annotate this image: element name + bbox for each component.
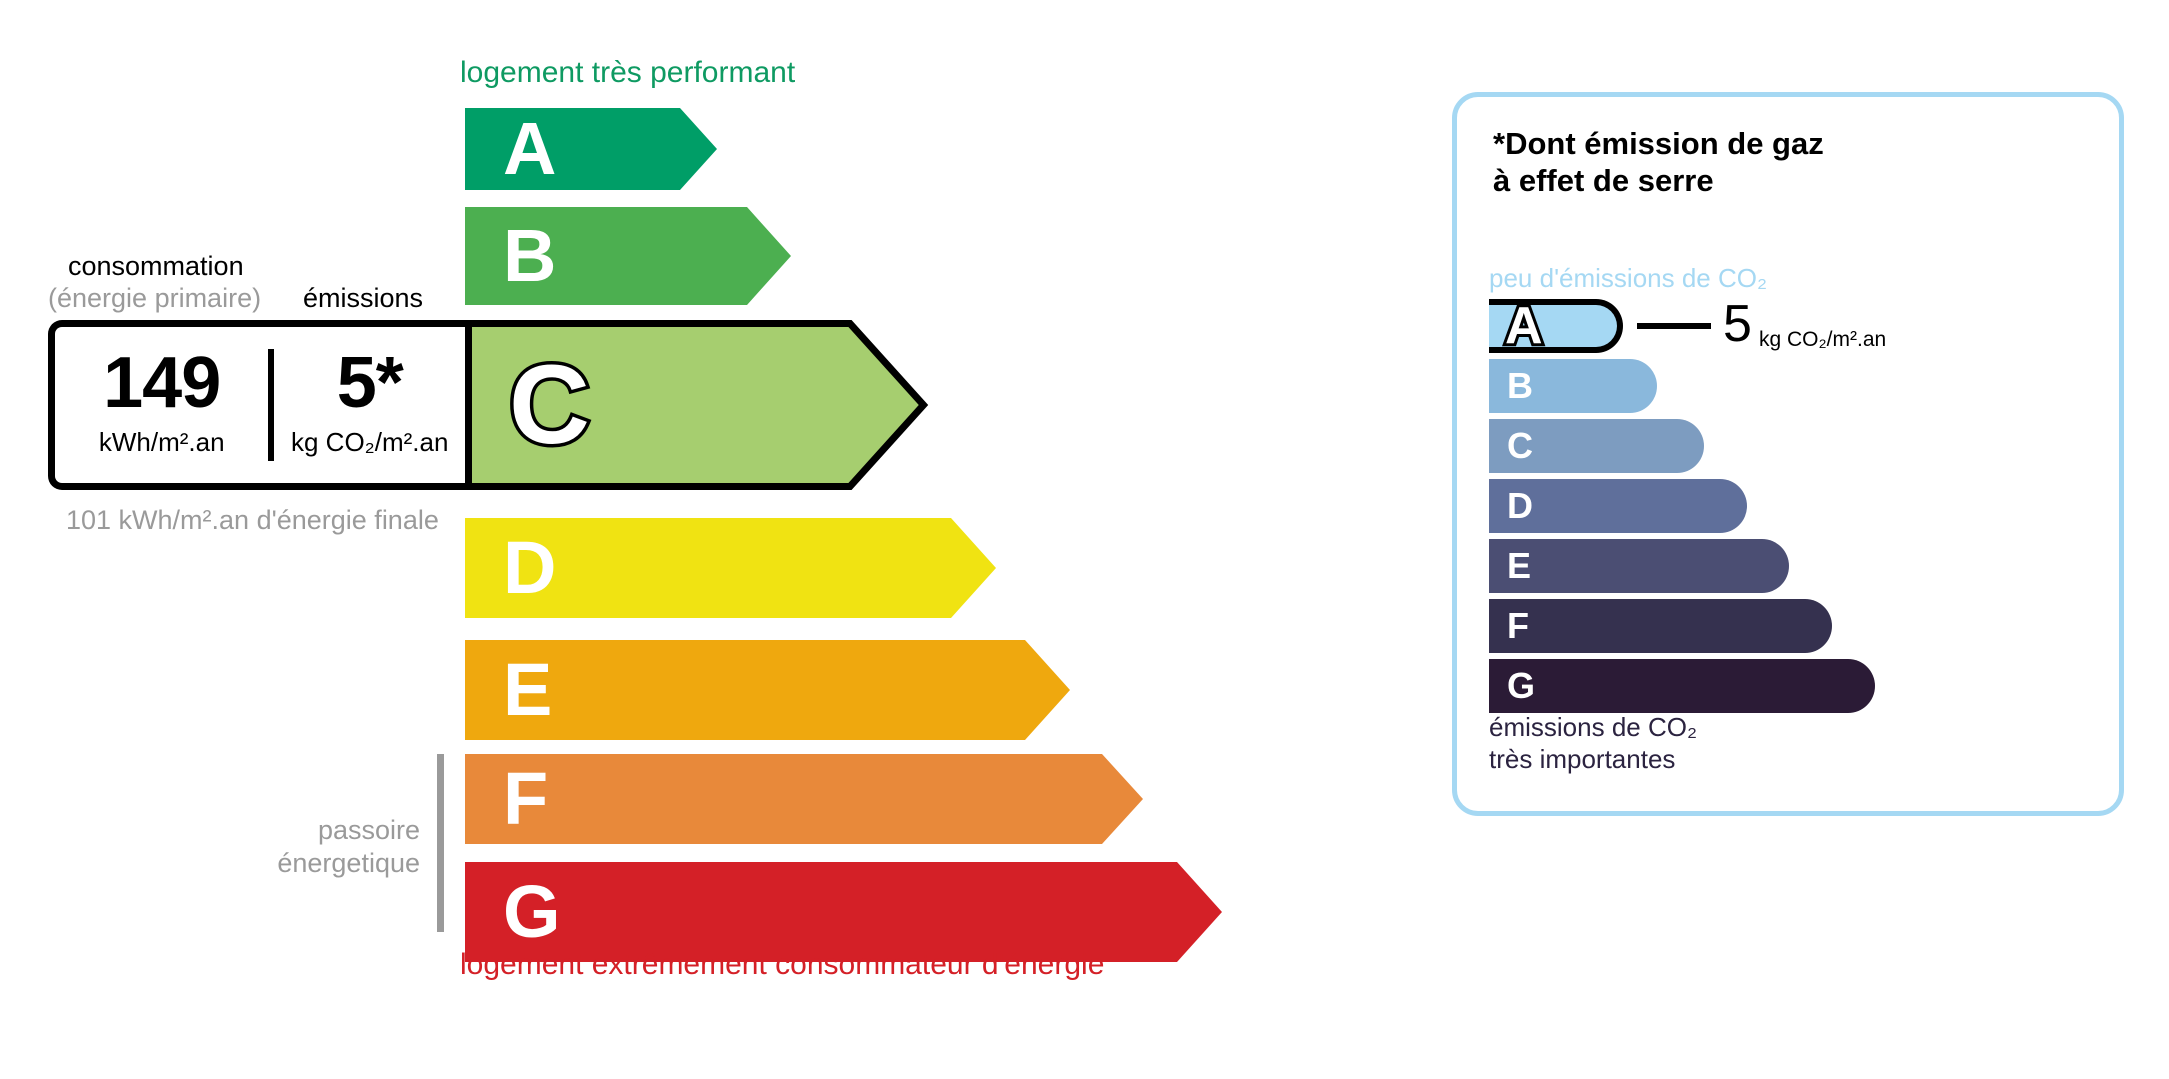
ges-callout-line xyxy=(1637,323,1711,329)
ges-bar-a: A xyxy=(1489,299,1623,353)
ges-bar-letter-a: A xyxy=(1505,300,1543,352)
energy-bar-b: B xyxy=(465,207,791,305)
energy-bar-d: D xyxy=(465,518,996,618)
consumption-value: 149 xyxy=(103,347,220,419)
dpe-energy-label: logement très performant ABCDEFG consomm… xyxy=(0,0,2169,1079)
energy-bar-e: E xyxy=(465,640,1070,740)
ges-bar-b: B xyxy=(1489,359,1657,413)
energy-bar-letter-b: B xyxy=(503,219,556,293)
ges-top-note: peu d'émissions de CO₂ xyxy=(1489,263,1767,294)
energy-bar-letter-c: C xyxy=(509,349,590,461)
energy-bar-letter-d: D xyxy=(503,531,556,605)
ges-bar-letter-e: E xyxy=(1507,548,1531,584)
ges-bar-c: C xyxy=(1489,419,1704,473)
energy-bar-letter-a: A xyxy=(503,112,556,186)
ges-bar-letter-c: C xyxy=(1507,428,1533,464)
ges-bar-g: G xyxy=(1489,659,1875,713)
consumption-cell: 149 kWh/m².an xyxy=(55,327,268,483)
energy-bottom-note: logement extrêmement consommateur d'éner… xyxy=(460,948,1104,982)
ges-bar-d: D xyxy=(1489,479,1747,533)
ges-bar-shape-f xyxy=(1489,599,1832,653)
energy-performance-chart: logement très performant ABCDEFG consomm… xyxy=(0,0,1400,1079)
ges-bar-shape-g xyxy=(1489,659,1875,713)
energy-bar-shape-f xyxy=(465,754,1143,844)
energy-bar-letter-e: E xyxy=(503,653,552,727)
ges-bar-letter-b: B xyxy=(1507,368,1533,404)
energy-bar-g: G xyxy=(465,862,1222,962)
emissions-cell: 5* kg CO₂/m².an xyxy=(274,327,465,483)
final-energy-note: 101 kWh/m².an d'énergie finale xyxy=(66,504,439,537)
energy-top-note: logement très performant xyxy=(460,56,795,90)
energy-bar-shape-g xyxy=(465,862,1222,962)
ges-title: *Dont émission de gaz à effet de serre xyxy=(1493,125,1824,199)
ges-callout-unit: kg CO₂/m².an xyxy=(1759,329,1886,350)
energy-bar-letter-f: F xyxy=(503,762,548,836)
ges-panel: *Dont émission de gaz à effet de serre p… xyxy=(1452,92,2124,816)
energy-bar-f: F xyxy=(465,754,1143,844)
energy-bar-letter-g: G xyxy=(503,875,561,949)
consumption-sublabel: (énergie primaire) xyxy=(48,283,261,314)
consumption-unit: kWh/m².an xyxy=(99,427,225,458)
emissions-unit: kg CO₂/m².an xyxy=(291,427,448,458)
ges-bar-letter-g: G xyxy=(1507,668,1535,704)
ges-bar-letter-d: D xyxy=(1507,488,1533,524)
passoire-label: passoire énergetique xyxy=(180,814,420,880)
passoire-marker-bar xyxy=(437,754,444,932)
emissions-label: émissions xyxy=(303,283,423,314)
ges-callout-value: 5 xyxy=(1723,298,1752,350)
ges-bar-shape-e xyxy=(1489,539,1789,593)
ges-bar-letter-f: F xyxy=(1507,608,1529,644)
energy-bar-c: C xyxy=(465,320,927,490)
ges-bar-f: F xyxy=(1489,599,1832,653)
emissions-value: 5* xyxy=(337,347,403,419)
ges-bottom-note: émissions de CO₂ très importantes xyxy=(1489,712,1697,775)
energy-bar-a: A xyxy=(465,108,717,190)
energy-bar-shape-e xyxy=(465,640,1070,740)
value-readout-box: 149 kWh/m².an 5* kg CO₂/m².an xyxy=(48,320,465,490)
ges-bar-e: E xyxy=(1489,539,1789,593)
consumption-label: consommation xyxy=(68,251,244,282)
